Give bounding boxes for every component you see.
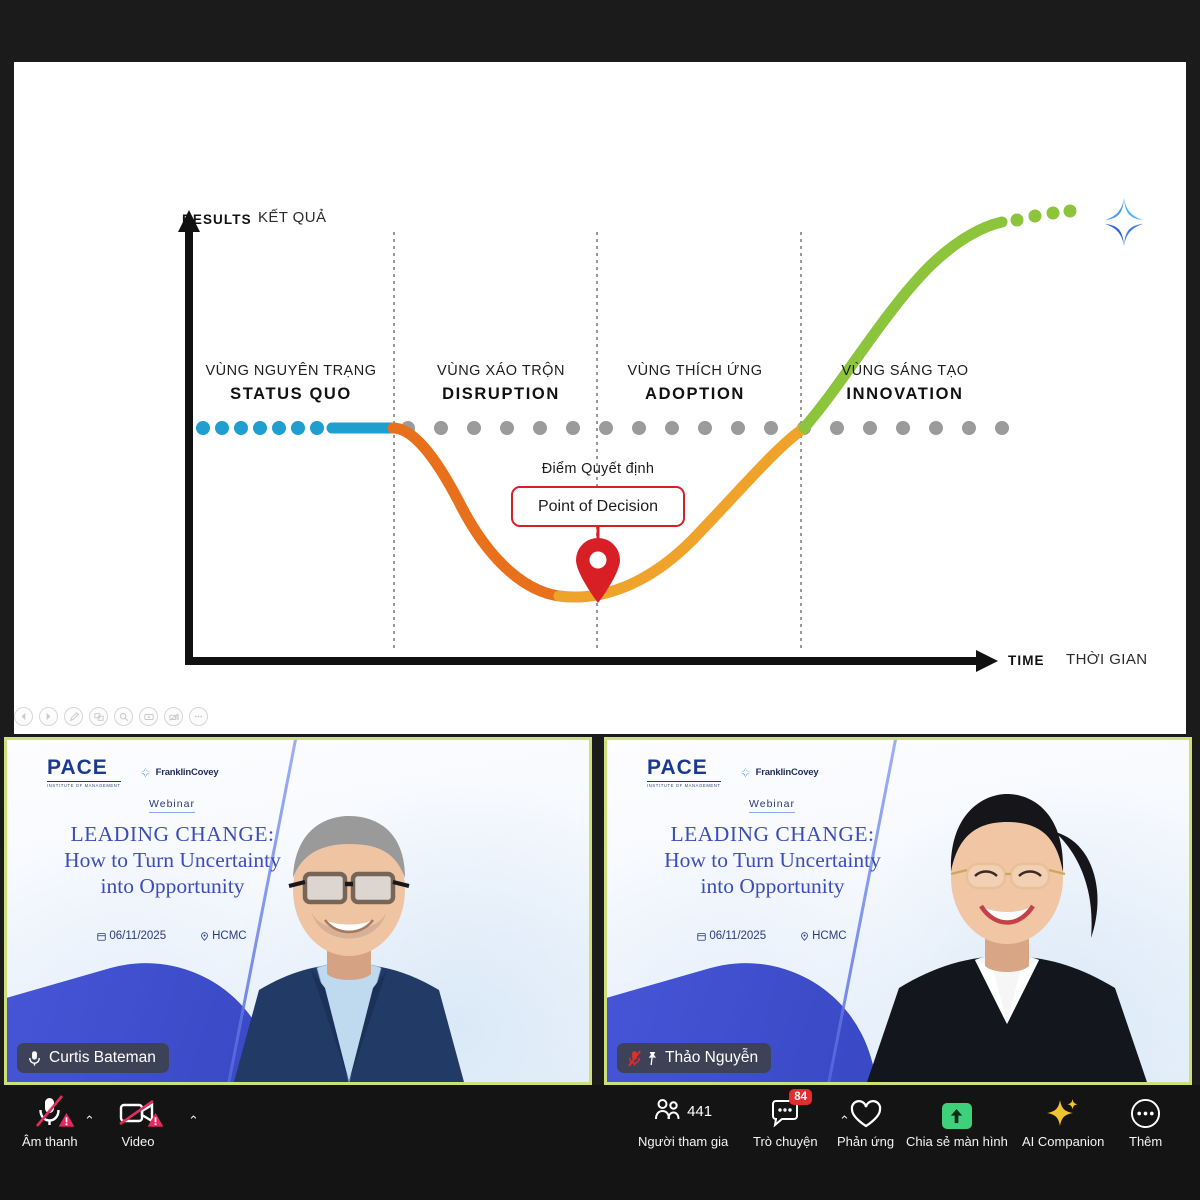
calendar-icon [697,932,706,941]
share-screen-button[interactable]: Chia sẻ màn hình [906,1093,1008,1149]
heart-icon [849,1099,883,1129]
audio-options-caret-icon[interactable]: ⌃ [84,1113,95,1129]
share-screen-icon [942,1103,972,1129]
presenter-view-icon[interactable] [139,707,158,726]
zone-disruption: VÙNG XÁO TRỘN DISRUPTION [391,363,611,404]
share-screen-label: Chia sẻ màn hình [906,1134,1008,1149]
virtual-background: PACE INSTITUTE OF MANAGEMENT FranklinCov… [7,740,589,1082]
video-tile-participant-1[interactable]: PACE INSTITUTE OF MANAGEMENT FranklinCov… [4,737,592,1085]
microphone-muted-icon [27,1050,42,1067]
warning-triangle-icon [147,1112,164,1128]
participant-video-image [139,782,559,1082]
shared-screen-slide[interactable]: RESULTS KẾT QUẢ TIME THỜI GIAN [14,62,1186,734]
zone-label-en: ADOPTION [585,385,805,404]
audio-button[interactable]: Âm thanh ⌃ [22,1093,78,1149]
chat-unread-badge: 84 [789,1089,812,1105]
franklincovey-compass-icon [1096,194,1152,250]
ai-companion-label: AI Companion [1022,1134,1104,1149]
ai-companion-button[interactable]: AI Companion [1022,1093,1104,1149]
zone-label-vi: VÙNG SÁNG TẠO [795,363,1015,379]
zone-label-en: INNOVATION [795,385,1015,404]
zone-label-en: STATUS QUO [181,385,401,404]
zone-adoption: VÙNG THÍCH ỨNG ADOPTION [585,363,805,404]
more-button[interactable]: Thêm [1129,1093,1162,1149]
annotate-pen-icon[interactable] [64,707,83,726]
point-of-decision-label-vi: Điểm Quyết định [483,461,713,477]
chat-button[interactable]: 84 Trò chuyện ⌃ [753,1093,818,1149]
franklincovey-compass-icon [739,766,752,779]
zoom-meeting-window: RESULTS KẾT QUẢ TIME THỜI GIAN [0,0,1200,1200]
background-date: 06/11/2025 [697,930,766,942]
pace-logo: PACE INSTITUTE OF MANAGEMENT [647,756,721,788]
participant-name: Curtis Bateman [49,1049,156,1067]
video-tile-participant-2[interactable]: PACE INSTITUTE OF MANAGEMENT FranklinCov… [604,737,1192,1085]
zone-label-en: DISRUPTION [391,385,611,404]
participants-icon [654,1098,684,1124]
calendar-icon [97,932,106,941]
zone-label-vi: VÙNG XÁO TRỘN [391,363,611,379]
baseline-dots [401,421,1009,435]
participants-button[interactable]: 441 Người tham gia [638,1093,728,1149]
participant-video-image [807,762,1189,1082]
zoom-meeting-toolbar: Âm thanh ⌃ Video ⌃ [0,1085,1200,1200]
franklincovey-logo: FranklinCovey [139,766,219,779]
participant-nameplate: Curtis Bateman [17,1043,169,1073]
point-of-decision-label-en: Point of Decision [538,498,658,516]
pace-logo: PACE INSTITUTE OF MANAGEMENT [47,756,121,788]
reactions-label: Phản ứng [837,1134,894,1149]
more-dots-icon [1130,1098,1161,1129]
reactions-button[interactable]: Phản ứng [837,1093,894,1149]
presentation-controls-toolbar[interactable] [14,707,208,726]
audio-label: Âm thanh [22,1134,78,1149]
status-quo-dots [196,421,324,435]
video-options-caret-icon[interactable]: ⌃ [188,1113,199,1129]
microphone-muted-red-icon [627,1050,642,1067]
warning-triangle-icon [58,1112,75,1128]
more-options-icon[interactable] [189,707,208,726]
chat-label: Trò chuyện [753,1134,818,1149]
zone-label-vi: VÙNG NGUYÊN TRẠNG [181,363,401,379]
stop-video-icon[interactable] [164,707,183,726]
previous-slide-icon[interactable] [14,707,33,726]
zone-innovation: VÙNG SÁNG TẠO INNOVATION [795,363,1015,404]
slide-thumbnails-icon[interactable] [89,707,108,726]
next-slide-icon[interactable] [39,707,58,726]
magnify-icon[interactable] [114,707,133,726]
participants-label: Người tham gia [638,1134,728,1149]
video-label: Video [121,1134,154,1149]
zone-label-vi: VÙNG THÍCH ỨNG [585,363,805,379]
sparkle-icon [1046,1097,1080,1129]
participant-nameplate: Thảo Nguyễn [617,1043,771,1073]
video-button[interactable]: Video ⌃ [118,1093,158,1149]
franklincovey-compass-icon [139,766,152,779]
point-of-decision-box: Point of Decision [511,486,685,527]
participants-count: 441 [687,1103,712,1120]
innovation-dots [1011,205,1077,227]
zone-status-quo: VÙNG NGUYÊN TRẠNG STATUS QUO [181,363,401,404]
participant-name: Thảo Nguyễn [665,1049,758,1067]
virtual-background: PACE INSTITUTE OF MANAGEMENT FranklinCov… [607,740,1189,1082]
more-label: Thêm [1129,1134,1162,1149]
pin-icon [645,1051,658,1066]
